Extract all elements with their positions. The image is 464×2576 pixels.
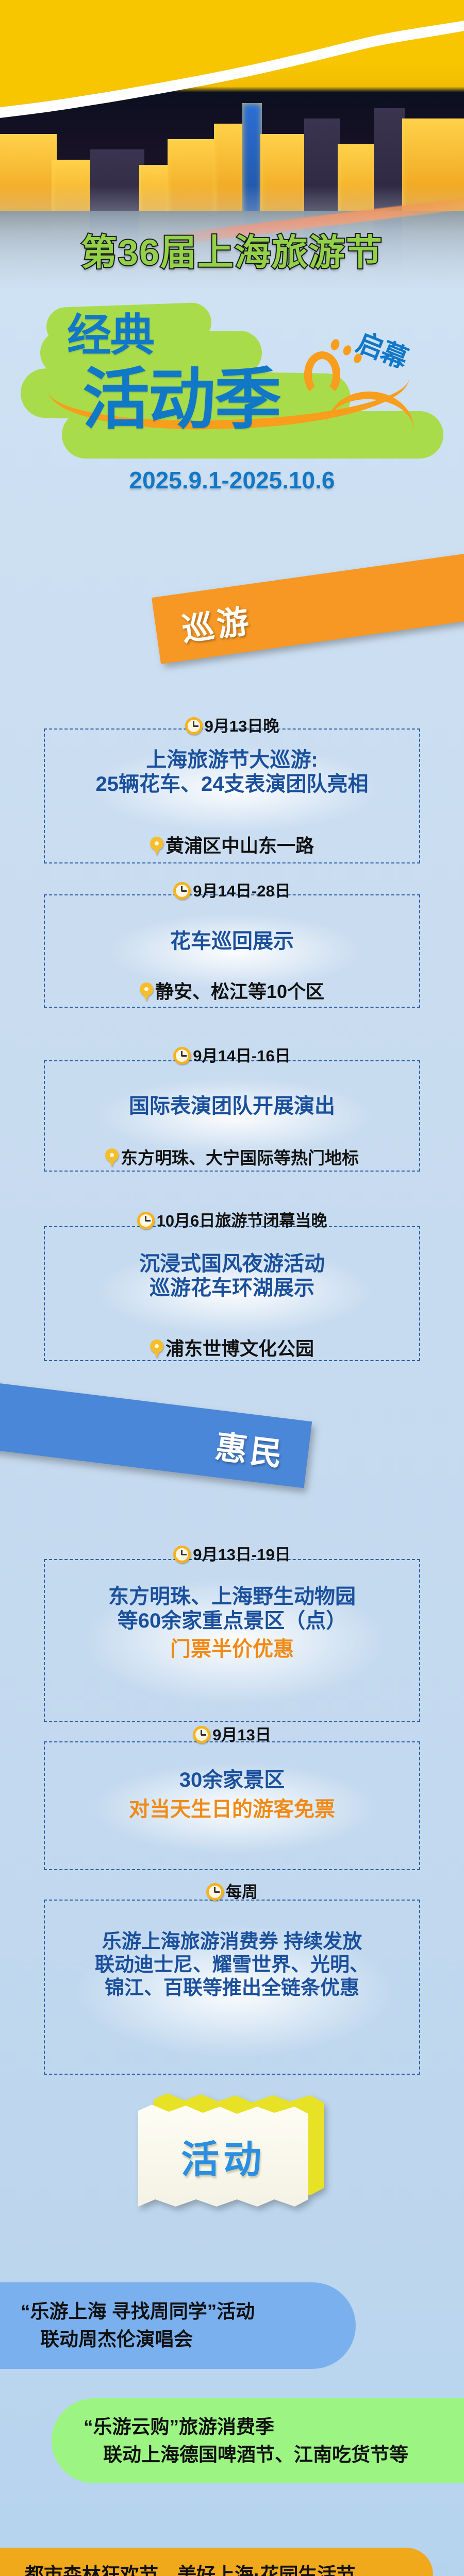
card-date: 每周	[44, 1883, 420, 1901]
section-banner-benefits: 惠民	[0, 1377, 312, 1488]
location-pin-icon	[140, 982, 153, 1001]
poster-root: 第36届上海旅游节 经典 活动季 启幕 2025.9.1-2025.10.6 巡…	[0, 0, 464, 2576]
section-banner-label: 惠民	[213, 1420, 288, 1475]
badge-paper: 活动	[138, 2105, 308, 2208]
pill-line-2: 联动上海德国啤酒节、江南吃货节等	[84, 2441, 464, 2469]
card-date: 9月13日晚	[44, 717, 420, 735]
clock-icon	[193, 1726, 210, 1743]
card-location: 浦东世博文化公园	[44, 1340, 420, 1358]
campaign-logo: 经典 活动季 启幕	[0, 294, 464, 469]
card-title: 沉浸式国风夜游活动 巡游花车环湖展示	[44, 1252, 420, 1300]
card-title: 国际表演团队开展演出	[44, 1094, 420, 1118]
card-date: 9月14日-16日	[44, 1047, 420, 1064]
card-location: 静安、松江等10个区	[44, 982, 420, 1001]
date-range: 2025.9.1-2025.10.6	[0, 466, 464, 494]
pill-line-1: 都市森林狂欢节、美好上海·花园生活节	[25, 2561, 418, 2576]
section-banner-label: 巡游	[178, 595, 254, 650]
card-title: 东方明珠、上海野生动物园 等60余家重点景区（点） 门票半价优惠	[44, 1585, 420, 1662]
location-pin-icon	[105, 1148, 119, 1167]
info-card: 9月13日晚 上海旅游节大巡游: 25辆花车、24支表演团队亮相 黄浦区中山东一…	[44, 717, 420, 872]
clock-icon	[173, 882, 191, 900]
section-badge-activities: 活动	[138, 2093, 324, 2209]
section-banner-parade: 巡游	[152, 552, 464, 664]
card-title: 上海旅游节大巡游: 25辆花车、24支表演团队亮相	[44, 748, 420, 796]
card-title: 乐游上海旅游消费券 持续发放 联动迪士尼、耀雪世界、光明、 锦江、百联等推出全链…	[44, 1930, 420, 1999]
card-date: 9月13日-19日	[44, 1546, 420, 1563]
info-card: 9月14日-16日 国际表演团队开展演出 东方明珠、大宁国际等热门地标	[44, 1047, 420, 1201]
info-card: 9月13日 30余家景区 对当天生日的游客免票	[44, 1726, 420, 1880]
clock-icon	[206, 1883, 224, 1901]
card-title: 30余家景区 对当天生日的游客免票	[44, 1768, 420, 1822]
info-card: 10月6日旅游节闭幕当晚 沉浸式国风夜游活动 巡游花车环湖展示 浦东世博文化公园	[44, 1212, 420, 1382]
card-date: 9月14日-28日	[44, 882, 420, 900]
card-highlight: 对当天生日的游客免票	[44, 1798, 420, 1822]
activity-pill: “乐游云购”旅游消费季 联动上海德国啤酒节、江南吃货节等	[52, 2398, 464, 2483]
card-location: 东方明珠、大宁国际等热门地标	[44, 1148, 420, 1167]
festival-title: 第36届上海旅游节	[0, 234, 464, 270]
info-card: 9月13日-19日 东方明珠、上海野生动物园 等60余家重点景区（点） 门票半价…	[44, 1546, 420, 1726]
logo-line-2: 活动季	[82, 366, 280, 433]
card-highlight: 门票半价优惠	[44, 1637, 420, 1662]
card-title: 花车巡回展示	[44, 929, 420, 954]
card-date: 10月6日旅游节闭幕当晚	[44, 1212, 420, 1229]
section-badge-label: 活动	[181, 2129, 266, 2184]
location-pin-icon	[150, 837, 163, 855]
clock-icon	[173, 1047, 191, 1064]
activity-pill: “乐游上海 寻找周同学”活动 联动周杰伦演唱会	[0, 2282, 356, 2369]
pill-line-1: “乐游上海 寻找周同学”活动	[21, 2298, 335, 2326]
card-line-1: 乐游上海旅游消费券 持续发放	[102, 1931, 362, 1953]
logo-line-1: 经典	[67, 313, 154, 358]
pill-line-1: “乐游云购”旅游消费季	[84, 2413, 464, 2441]
clock-icon	[185, 717, 203, 735]
info-card: 每周 乐游上海旅游消费券 持续发放 联动迪士尼、耀雪世界、光明、 锦江、百联等推…	[44, 1883, 420, 2079]
card-date: 9月13日	[44, 1726, 420, 1743]
card-location: 黄浦区中山东一路	[44, 837, 420, 855]
clock-icon	[173, 1546, 191, 1563]
location-pin-icon	[150, 1340, 163, 1358]
clock-icon	[137, 1212, 155, 1229]
info-card: 9月14日-28日 花车巡回展示 静安、松江等10个区	[44, 882, 420, 1037]
activity-pill: 都市森林狂欢节、美好上海·花园生活节	[0, 2548, 433, 2576]
pill-line-2: 联动周杰伦演唱会	[21, 2326, 335, 2353]
